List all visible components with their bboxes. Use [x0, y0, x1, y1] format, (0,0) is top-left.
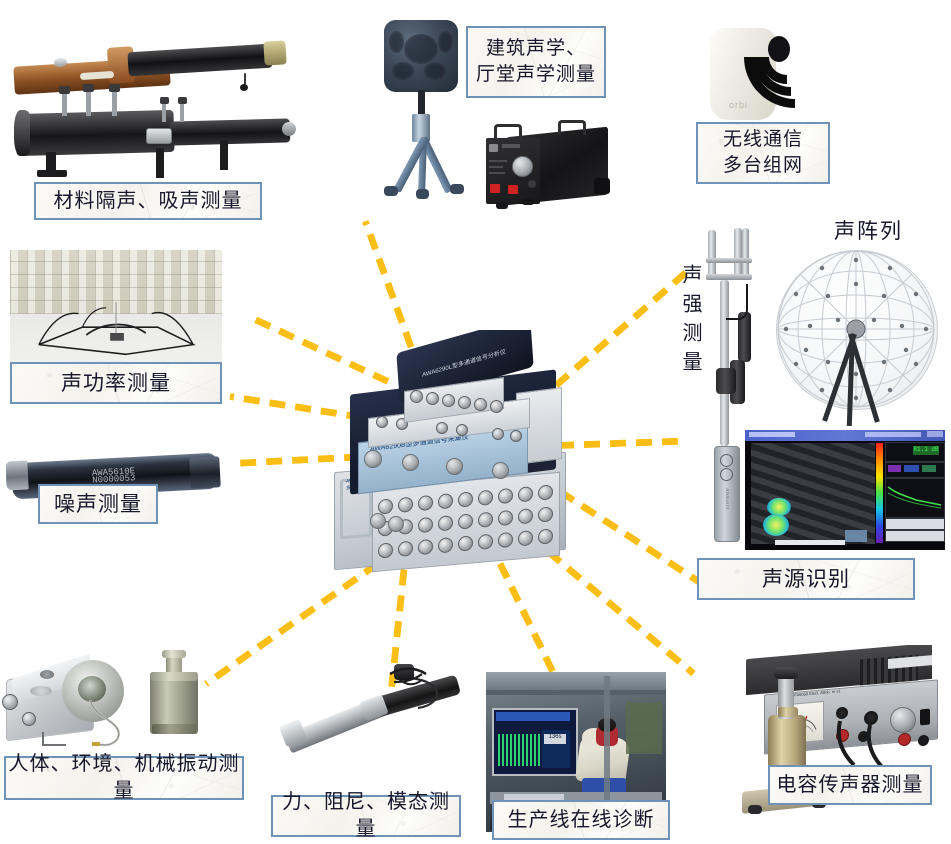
diagram-canvas: 材料隔声、吸声测量 建筑声学、 厅堂声学测量: [0, 0, 951, 844]
label-force-damping-modal: 力、阻尼、模态测量: [271, 795, 461, 837]
photo-impact-hammer: [278, 660, 468, 770]
label-vibration-measurement: 人体、环境、机械振动测量: [4, 756, 244, 800]
photo-spherical-array: [762, 248, 950, 438]
label-production-line-diagnosis: 生产线在线诊断: [492, 800, 670, 840]
label-sound-source-identify: 声源识别: [697, 558, 915, 600]
label-sound-intensity: 声强测量: [676, 264, 705, 380]
connector-to-production: [497, 562, 560, 682]
label-material-sound-insulation: 材料隔声、吸声测量: [34, 182, 262, 220]
label-condenser-microphone: 电容传声器测量: [768, 765, 932, 805]
photo-power-amplifier: [482, 118, 610, 216]
label-noise-measurement: 噪声测量: [38, 484, 158, 524]
photo-anechoic-chamber-rig: [10, 250, 222, 363]
label-wireless-network: 无线通信 多台组网: [696, 122, 830, 184]
label-sound-array: 声阵列: [834, 215, 903, 245]
photo-central-analyzer: AWA6290L型多通道信号分析仪: [326, 330, 576, 575]
photo-wireless-router: orbi: [694, 2, 862, 132]
photo-beamforming-software: 81.1 dB: [745, 430, 945, 550]
photo-impedance-tubes: [10, 20, 300, 185]
label-building-acoustics: 建筑声学、 厅堂声学测量: [466, 26, 606, 98]
connector-to-intensity: [558, 438, 686, 449]
label-sound-power: 声功率测量: [10, 362, 222, 404]
